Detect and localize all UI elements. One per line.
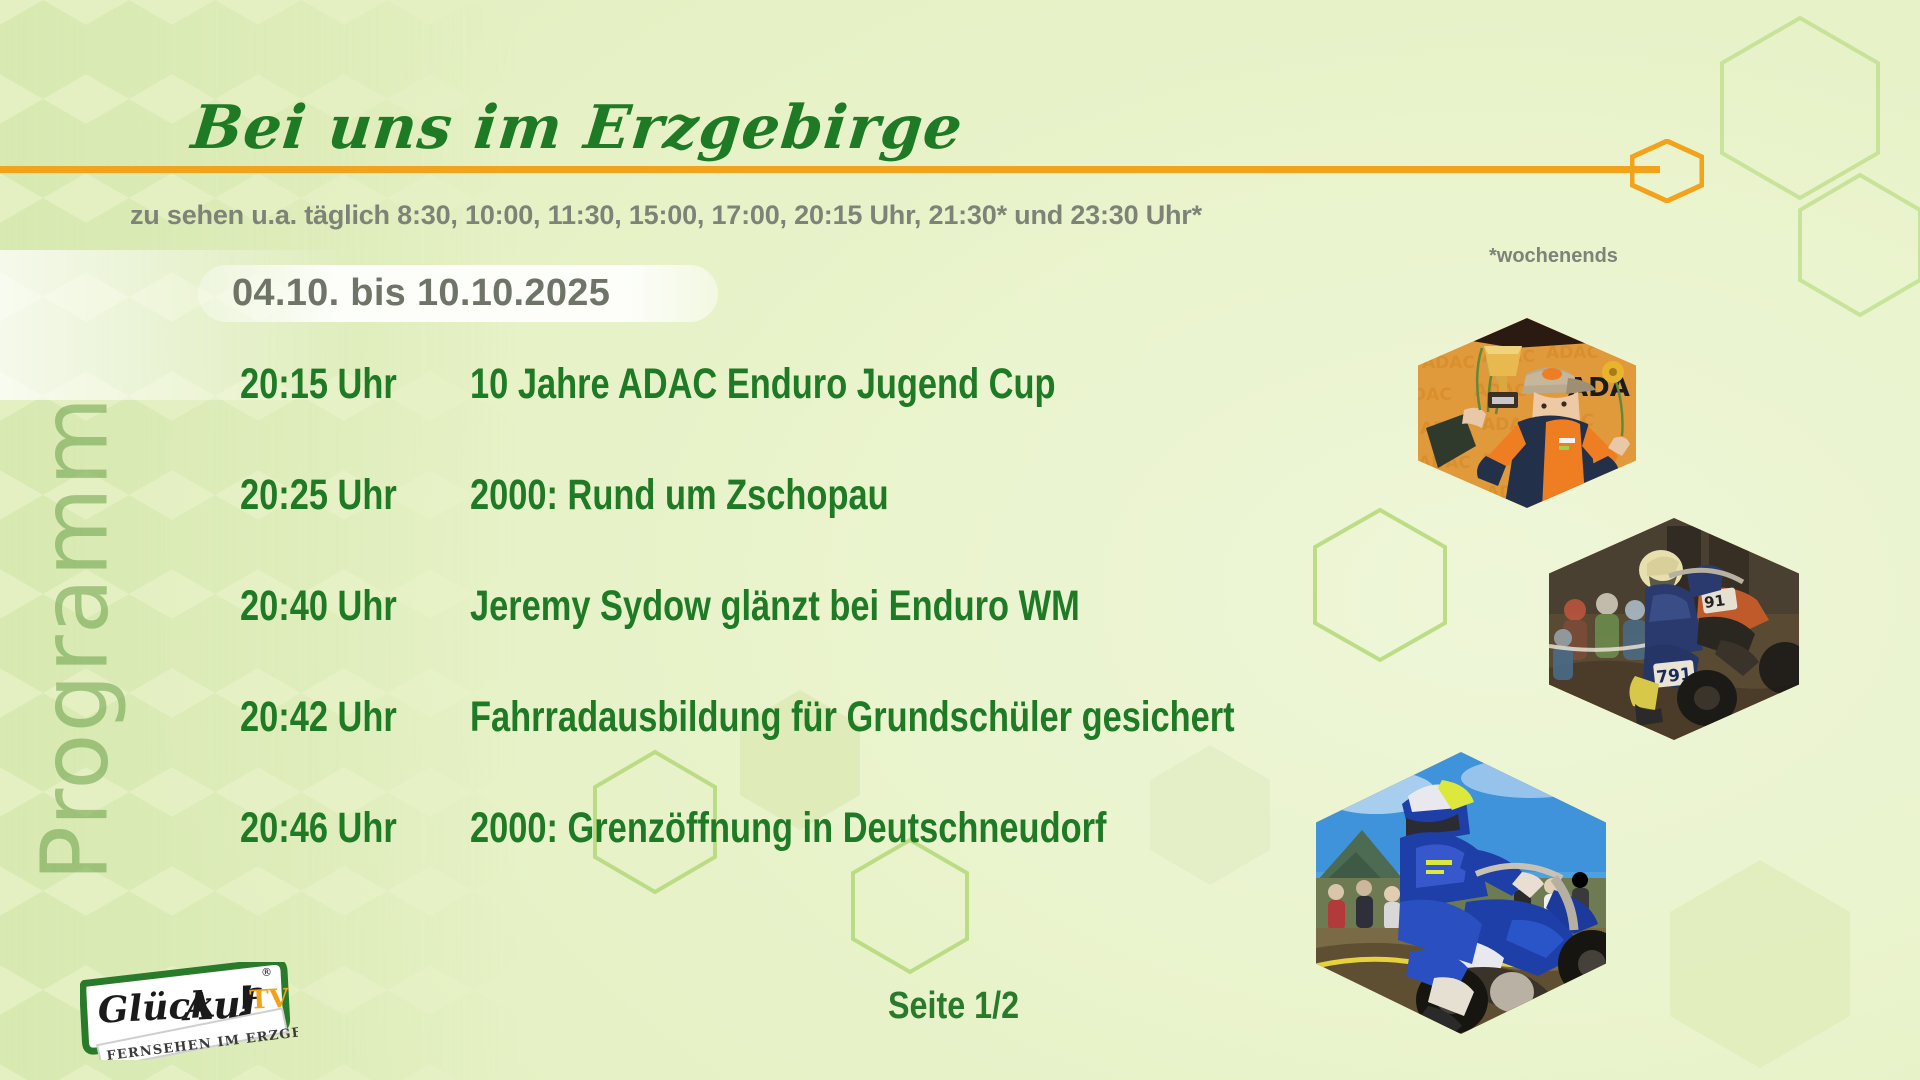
program-row: 20:15 Uhr 10 Jahre ADAC Enduro Jugend Cu… <box>240 360 1400 471</box>
program-time: 20:42 Uhr <box>240 693 424 742</box>
divider-end-hexagon-icon <box>1630 139 1704 203</box>
program-time: 20:15 Uhr <box>240 360 424 409</box>
page-indicator: Seite 1/2 <box>888 985 1019 1028</box>
broadcast-times: zu sehen u.a. täglich 8:30, 10:00, 11:30… <box>130 200 1202 231</box>
program-list: 20:15 Uhr 10 Jahre ADAC Enduro Jugend Cu… <box>240 360 1400 915</box>
broadcast-times-footnote: *wochenends <box>1489 245 1618 268</box>
page-title: Bei uns im Erzgebirge <box>188 93 966 163</box>
program-title: Fahrradausbildung für Grundschüler gesic… <box>470 693 1235 742</box>
svg-text:DAC: DAC <box>1418 385 1452 405</box>
program-row: 20:46 Uhr 2000: Grenzöffnung in Deutschn… <box>240 804 1400 915</box>
program-title: 10 Jahre ADAC Enduro Jugend Cup <box>470 360 1056 409</box>
program-row: 20:40 Uhr Jeremy Sydow glänzt bei Enduro… <box>240 582 1400 693</box>
date-range-badge: 04.10. bis 10.10.2025 <box>198 265 718 322</box>
program-row: 20:25 Uhr 2000: Rund um Zschopau <box>240 471 1400 582</box>
program-time: 20:40 Uhr <box>240 582 424 631</box>
broadcast-schedule-slide: Bei uns im Erzgebirge zu sehen u.a. tägl… <box>0 0 1920 1080</box>
program-title: 2000: Grenzöffnung in Deutschneudorf <box>470 804 1106 853</box>
svg-text:91: 91 <box>1703 591 1726 612</box>
program-time: 20:25 Uhr <box>240 471 424 520</box>
svg-text:®: ® <box>261 966 273 980</box>
logo-glueckauf-tv: Glück Auf ! TV ® FERNSEHEN IM ERZGEBIRGE <box>80 962 298 1060</box>
program-time: 20:46 Uhr <box>240 804 424 853</box>
program-title: 2000: Rund um Zschopau <box>470 471 889 520</box>
section-label-programm: Programm <box>21 396 128 882</box>
svg-text:ADAC: ADAC <box>1546 343 1599 363</box>
program-title: Jeremy Sydow glänzt bei Enduro WM <box>470 582 1080 631</box>
date-range-label: 04.10. bis 10.10.2025 <box>232 272 610 315</box>
header-divider-line <box>0 166 1660 173</box>
program-row: 20:42 Uhr Fahrradausbildung für Grundsch… <box>240 693 1400 804</box>
